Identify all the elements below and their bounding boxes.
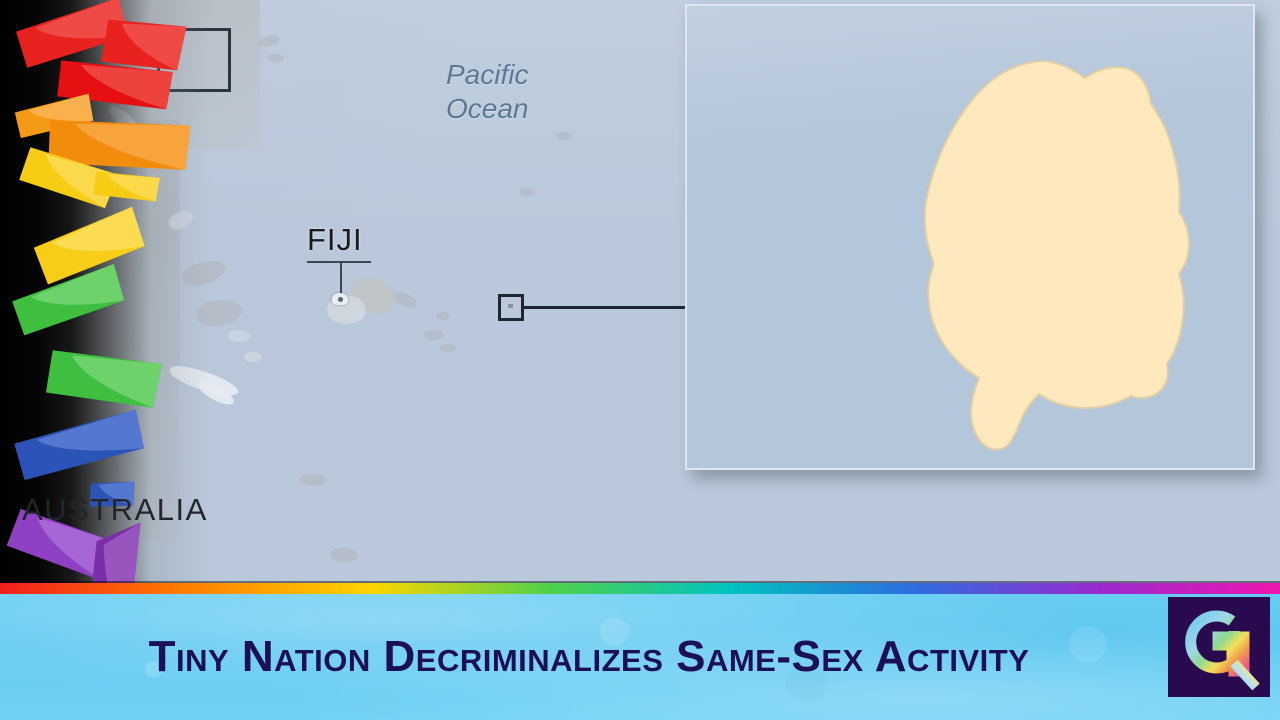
inset-connector-line bbox=[521, 306, 687, 309]
fiji-label-underline bbox=[307, 261, 371, 263]
banner-headline: Tiny Nation Decriminalizes Same-Sex Acti… bbox=[0, 594, 1160, 720]
australia-country-label: AUSTRALIA bbox=[22, 492, 208, 528]
fiji-location-marker-core bbox=[338, 297, 343, 302]
island-speck bbox=[424, 330, 444, 340]
island-speck bbox=[330, 548, 358, 562]
ocean-label: Pacific Ocean bbox=[446, 58, 529, 126]
island-speck bbox=[556, 132, 572, 140]
niue-inset-map-panel[interactable]: NIUE Alofi bbox=[685, 4, 1255, 470]
rainbow-shard bbox=[44, 341, 162, 415]
island-speck bbox=[440, 344, 456, 352]
rainbow-shard-decoration bbox=[0, 0, 210, 640]
island-speck bbox=[228, 330, 250, 342]
fiji-country-label: FIJI bbox=[307, 222, 363, 258]
gq-monogram-icon bbox=[1168, 597, 1270, 697]
news-graphic-frame: Pacific Ocean FIJI AUSTRALIA NIUE Alofi bbox=[0, 0, 1280, 720]
ocean-label-line-1: Pacific bbox=[446, 58, 529, 92]
rainbow-shard bbox=[13, 409, 146, 480]
ocean-label-line-2: Ocean bbox=[446, 92, 529, 126]
gq-logo[interactable] bbox=[1168, 597, 1270, 697]
island-speck bbox=[268, 54, 284, 62]
island-speck bbox=[300, 474, 326, 486]
island-speck bbox=[520, 188, 534, 196]
news-banner: Tiny Nation Decriminalizes Same-Sex Acti… bbox=[0, 594, 1280, 720]
island-speck bbox=[244, 352, 262, 362]
rainbow-divider-bar bbox=[0, 583, 1280, 594]
niue-island-speck bbox=[508, 304, 513, 308]
island-speck bbox=[436, 312, 450, 320]
niue-island-outline-icon bbox=[687, 6, 1253, 468]
